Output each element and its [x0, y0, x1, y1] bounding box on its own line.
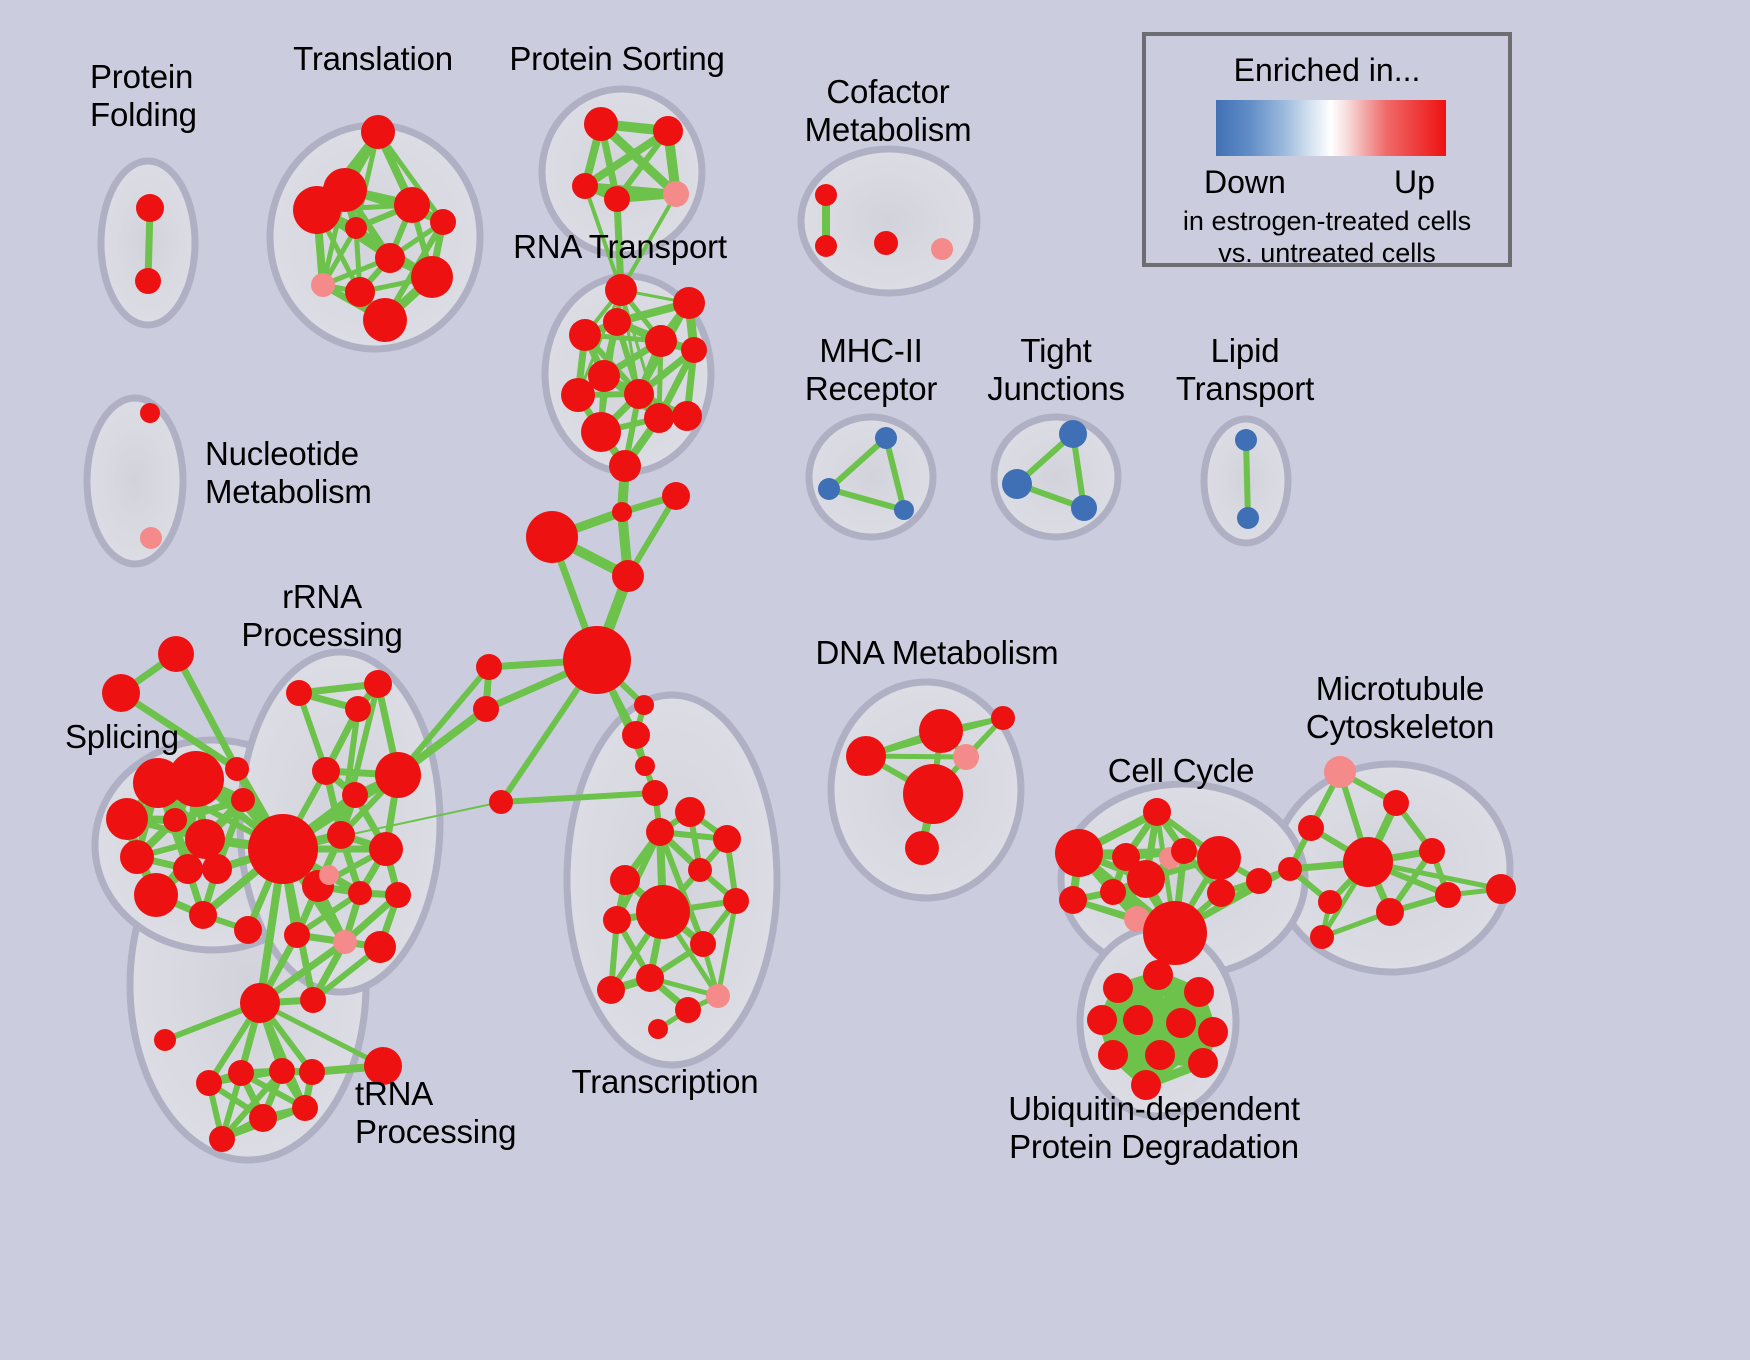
node: [476, 654, 502, 680]
node: [1103, 973, 1133, 1003]
figure-canvas: .hull{fill:url(#hullg);stroke:#b0b0c4;st…: [0, 0, 1750, 1360]
node: [248, 814, 318, 884]
cluster-label-microtubule-cytoskeleton: Microtubule Cytoskeleton: [1306, 670, 1494, 747]
node: [645, 325, 677, 357]
cluster-label-dna-metabolism: DNA Metabolism: [816, 634, 1059, 672]
node: [569, 319, 601, 351]
node: [1055, 829, 1103, 877]
node: [1383, 790, 1409, 816]
cluster-label-rna-transport: RNA Transport: [513, 228, 727, 266]
node: [953, 744, 979, 770]
node: [333, 930, 357, 954]
node: [1298, 815, 1324, 841]
legend-color-gradient: [1216, 100, 1446, 156]
legend-up-label: Up: [1394, 164, 1435, 201]
node: [681, 337, 707, 363]
node: [874, 231, 898, 255]
node: [1184, 977, 1214, 1007]
legend-title: Enriched in...: [1146, 52, 1508, 89]
cluster-label-tight-junctions: Tight Junctions: [987, 332, 1125, 409]
node: [1059, 886, 1087, 914]
node: [102, 674, 140, 712]
node: [489, 790, 513, 814]
node: [292, 1095, 318, 1121]
node: [1435, 882, 1461, 908]
node: [231, 788, 255, 812]
node: [572, 173, 598, 199]
node: [345, 277, 375, 307]
node: [375, 752, 421, 798]
node: [1143, 901, 1207, 965]
node: [163, 808, 187, 832]
node: [225, 757, 249, 781]
node: [526, 511, 578, 563]
node: [1171, 838, 1197, 864]
node: [1166, 1008, 1196, 1038]
node: [663, 181, 689, 207]
node: [1098, 1040, 1128, 1070]
node: [140, 403, 160, 423]
node: [609, 450, 641, 482]
edge-lipid: [1246, 440, 1248, 518]
node: [597, 976, 625, 1004]
node: [815, 184, 837, 206]
node: [369, 832, 403, 866]
node: [136, 194, 164, 222]
cluster-label-trna-processing: tRNA Processing: [355, 1075, 516, 1152]
node: [706, 984, 730, 1008]
node: [612, 502, 632, 522]
node: [345, 696, 371, 722]
cluster-label-nucleotide-metabolism: Nucleotide Metabolism: [205, 435, 372, 512]
node: [209, 1126, 235, 1152]
node: [1143, 960, 1173, 990]
node: [106, 798, 148, 840]
node: [603, 906, 631, 934]
node: [185, 819, 225, 859]
node: [635, 756, 655, 776]
node: [158, 636, 194, 672]
node: [688, 858, 712, 882]
node: [348, 881, 372, 905]
node: [342, 782, 368, 808]
node: [1188, 1048, 1218, 1078]
node: [673, 287, 705, 319]
node: [1100, 879, 1126, 905]
node: [1419, 838, 1445, 864]
node: [846, 736, 886, 776]
node: [1310, 925, 1334, 949]
node: [228, 1060, 254, 1086]
node: [269, 1058, 295, 1084]
node: [300, 987, 326, 1013]
node: [1318, 890, 1342, 914]
hull-mhc-ii-receptor: [809, 417, 933, 537]
node: [1059, 420, 1087, 448]
node: [690, 931, 716, 957]
node: [312, 757, 340, 785]
node: [385, 882, 411, 908]
hull-nucleotide-metabolism: [87, 398, 183, 564]
node: [299, 1059, 325, 1085]
node: [140, 527, 162, 549]
node: [1071, 495, 1097, 521]
node: [675, 997, 701, 1023]
node: [1145, 1040, 1175, 1070]
node: [1246, 868, 1272, 894]
node: [642, 780, 668, 806]
node: [189, 901, 217, 929]
node: [815, 235, 837, 257]
node: [624, 379, 654, 409]
node: [653, 116, 683, 146]
cluster-label-protein-folding: Protein Folding: [90, 58, 197, 135]
node: [361, 115, 395, 149]
node: [612, 560, 644, 592]
node: [196, 1070, 222, 1096]
node: [394, 187, 430, 223]
node: [375, 243, 405, 273]
node: [561, 378, 595, 412]
node: [1486, 874, 1516, 904]
node: [168, 751, 224, 807]
node: [1343, 837, 1393, 887]
cluster-label-transcription: Transcription: [572, 1063, 759, 1101]
node: [563, 626, 631, 694]
node: [1237, 507, 1259, 529]
node: [584, 107, 618, 141]
node: [364, 670, 392, 698]
cluster-label-translation: Translation: [293, 40, 453, 78]
node: [1143, 798, 1171, 826]
node: [622, 721, 650, 749]
cluster-label-mhc-ii-receptor: MHC-II Receptor: [805, 332, 937, 409]
node: [723, 888, 749, 914]
legend-down-label: Down: [1204, 164, 1286, 201]
node: [1123, 1005, 1153, 1035]
node: [286, 680, 312, 706]
node: [991, 706, 1015, 730]
node: [919, 709, 963, 753]
node: [134, 873, 178, 917]
node: [345, 217, 367, 239]
node: [875, 427, 897, 449]
node: [903, 764, 963, 824]
node: [173, 854, 203, 884]
node: [135, 268, 161, 294]
cluster-label-rrna-processing: rRNA Processing: [241, 578, 402, 655]
node: [1127, 860, 1165, 898]
node: [311, 273, 335, 297]
node: [818, 478, 840, 500]
node: [644, 403, 674, 433]
node: [120, 840, 154, 874]
node: [636, 964, 664, 992]
node: [604, 186, 630, 212]
node: [672, 401, 702, 431]
node: [1278, 857, 1302, 881]
node: [1376, 898, 1404, 926]
node: [1002, 469, 1032, 499]
node: [1235, 429, 1257, 451]
node: [581, 412, 621, 452]
cluster-label-cell-cycle: Cell Cycle: [1108, 752, 1255, 790]
node: [1197, 836, 1241, 880]
node: [605, 274, 637, 306]
node: [713, 825, 741, 853]
node: [327, 821, 355, 849]
cluster-label-protein-sorting: Protein Sorting: [509, 40, 724, 78]
node: [662, 482, 690, 510]
cluster-label-ubiquitin-degradation: Ubiquitin-dependent Protein Degradation: [1008, 1090, 1300, 1167]
node: [202, 854, 232, 884]
node: [905, 831, 939, 865]
node: [473, 696, 499, 722]
node: [646, 818, 674, 846]
node: [364, 931, 396, 963]
node: [411, 256, 453, 298]
node: [648, 1019, 668, 1039]
node: [249, 1104, 277, 1132]
node: [240, 983, 280, 1023]
node: [154, 1029, 176, 1051]
node: [610, 865, 640, 895]
node: [603, 308, 631, 336]
node: [293, 186, 341, 234]
node: [363, 298, 407, 342]
node: [931, 238, 953, 260]
cluster-label-lipid-transport: Lipid Transport: [1176, 332, 1314, 409]
node: [1087, 1005, 1117, 1035]
node: [430, 209, 456, 235]
hull-transcription: [567, 695, 777, 1065]
node: [1198, 1017, 1228, 1047]
legend-subtitle-line2: vs. untreated cells: [1146, 238, 1508, 269]
cluster-label-splicing: Splicing: [65, 718, 179, 756]
node: [675, 797, 705, 827]
node: [894, 500, 914, 520]
legend-box: Enriched in... Down Up in estrogen-treat…: [1142, 32, 1512, 267]
node: [234, 916, 262, 944]
node: [634, 695, 654, 715]
cluster-label-cofactor-metabolism: Cofactor Metabolism: [805, 73, 972, 150]
node: [284, 922, 310, 948]
legend-subtitle-line1: in estrogen-treated cells: [1146, 206, 1508, 237]
node: [1207, 879, 1235, 907]
node: [636, 885, 690, 939]
node: [319, 865, 339, 885]
node: [1324, 756, 1356, 788]
